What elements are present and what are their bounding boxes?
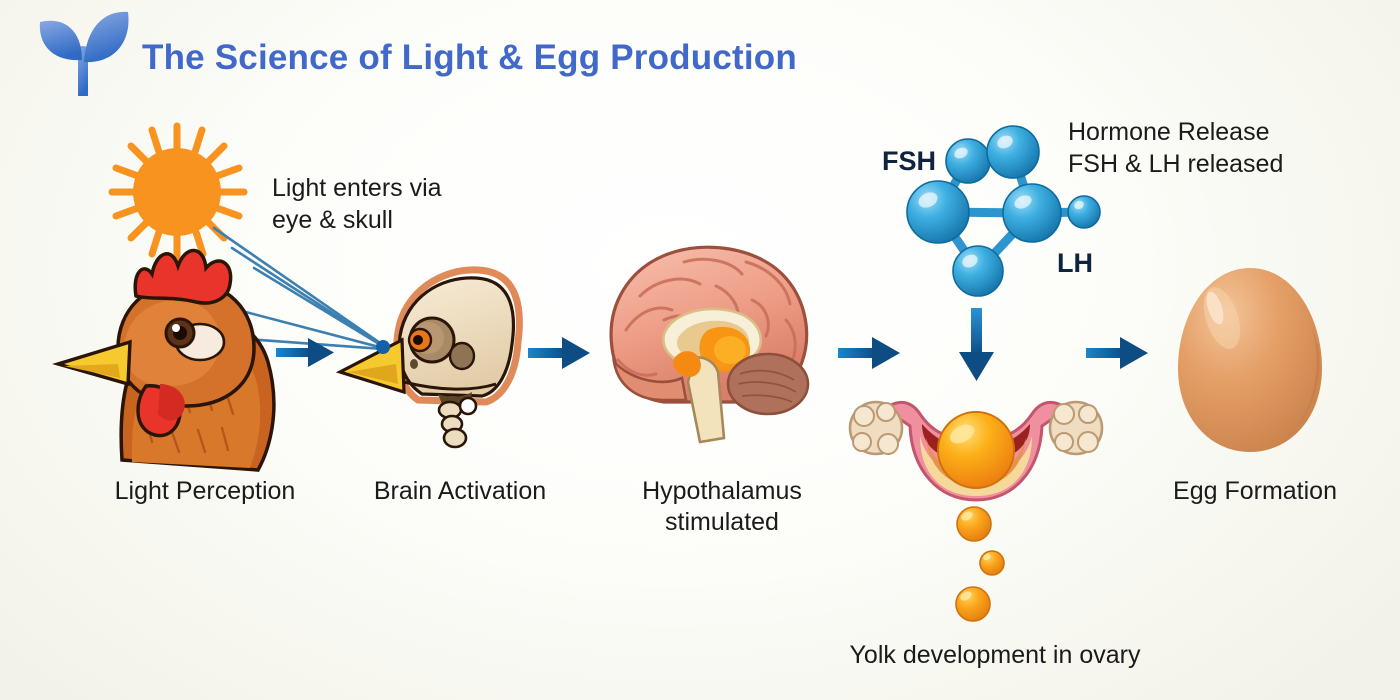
arrow-molecule-to-ovary (959, 308, 994, 381)
caption-yolk-development: Yolk development in ovary (800, 640, 1190, 671)
illustration-layer: FSH LH (0, 0, 1400, 700)
sprout-logo-icon (40, 12, 129, 96)
ovary-left (850, 402, 902, 454)
arrow-skull-to-brain (528, 337, 590, 369)
stage-label-brain-activation: Brain Activation (340, 476, 580, 507)
molecule-label-lh: LH (1057, 248, 1093, 278)
infographic-canvas: FSH LH (0, 0, 1400, 700)
annotation-hormone-release: Hormone Release FSH & LH released (1068, 117, 1398, 181)
chicken-head-icon (58, 250, 274, 470)
stage-label-hypothalamus: Hypothalamus stimulated (602, 476, 842, 537)
ovary-uterus-icon (850, 402, 1102, 500)
stage-label-egg-formation: Egg Formation (1130, 476, 1380, 507)
annotation-light-path: Light enters via eye & skull (272, 173, 532, 237)
molecule-label-fsh: FSH (882, 146, 936, 176)
sun-icon (112, 126, 244, 258)
stage-label-light-perception: Light Perception (80, 476, 330, 507)
arrow-brain-to-ovary (838, 337, 900, 369)
ovary-right (1050, 402, 1102, 454)
bird-skull-icon (340, 270, 519, 447)
page-title: The Science of Light & Egg Production (142, 38, 797, 78)
egg-icon (1178, 268, 1322, 452)
arrow-ovary-to-egg (1086, 337, 1148, 369)
brain-icon (611, 247, 808, 442)
yolk-droplets (956, 507, 1004, 621)
